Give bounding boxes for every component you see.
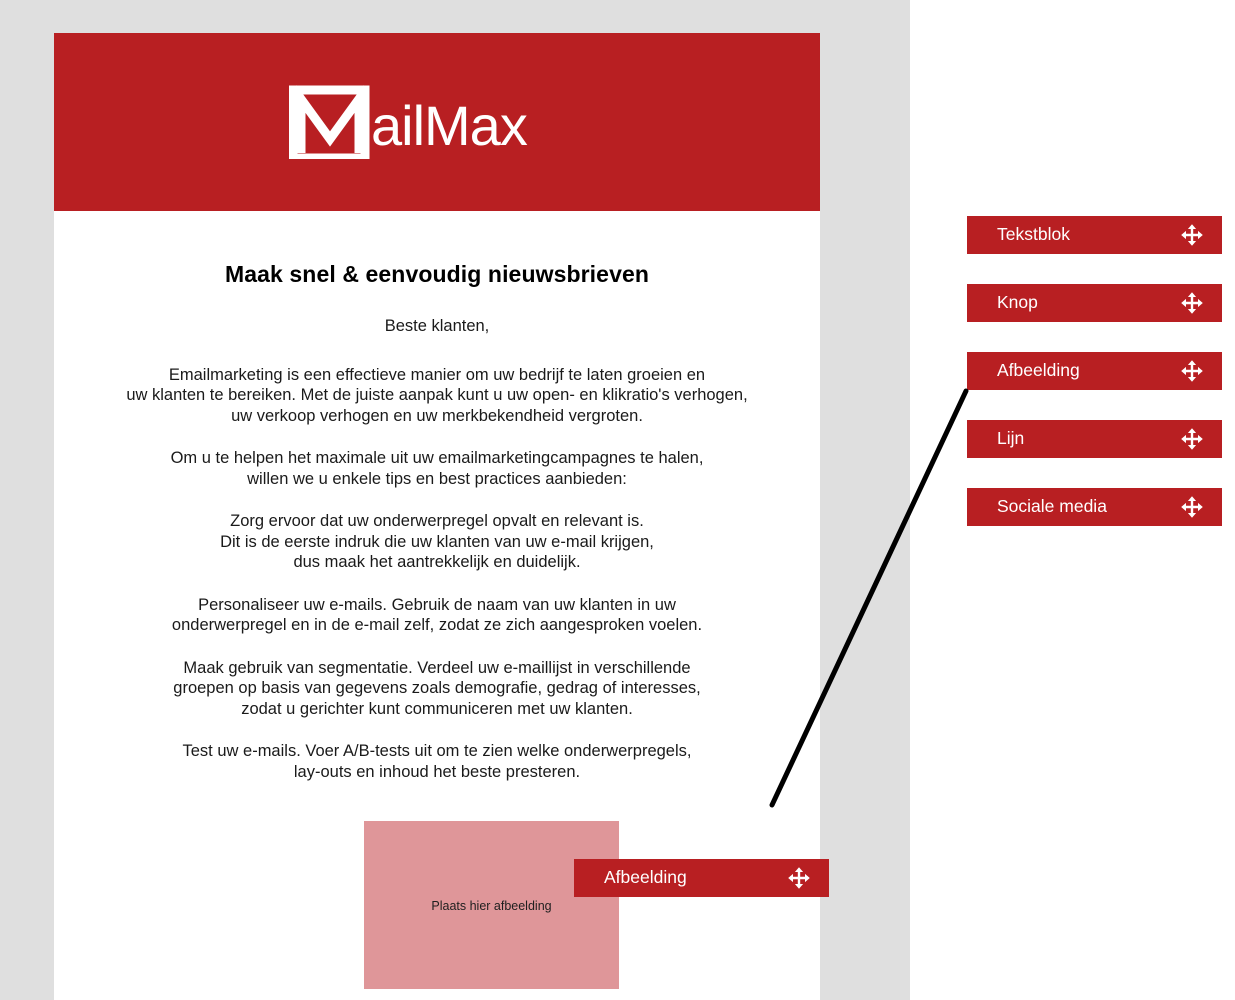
move-arrows-icon bbox=[1180, 427, 1204, 451]
image-placeholder-label: Plaats hier afbeelding bbox=[364, 899, 619, 913]
email-paragraph-greeting: Beste klanten, bbox=[54, 316, 820, 337]
brand-logo: ailMax bbox=[54, 33, 820, 211]
move-arrows-icon bbox=[1180, 291, 1204, 315]
palette-item-label: Lijn bbox=[997, 430, 1024, 448]
move-arrows-icon bbox=[787, 866, 811, 890]
palette-item-lijn[interactable]: Lijn bbox=[967, 420, 1222, 458]
email-paragraph-tip-personalise-line: onderwerpregel en in de e-mail zelf, zod… bbox=[54, 615, 820, 636]
email-paragraph-tip-segmentation-line: Maak gebruik van segmentatie. Verdeel uw… bbox=[54, 658, 820, 679]
email-paragraph-tip-personalise-line: Personaliseer uw e-mails. Gebruik de naa… bbox=[54, 595, 820, 616]
email-paragraph-tips-intro-line: Om u te helpen het maximale uit uw email… bbox=[54, 448, 820, 469]
email-canvas[interactable]: ailMax Maak snel & eenvoudig nieuwsbriev… bbox=[54, 33, 820, 1000]
move-arrows-icon bbox=[1180, 359, 1204, 383]
palette-item-tekstblok[interactable]: Tekstblok bbox=[967, 216, 1222, 254]
email-paragraph-tip-segmentation-line: groepen op basis van gegevens zoals demo… bbox=[54, 678, 820, 699]
palette-item-label: Afbeelding bbox=[997, 362, 1080, 380]
email-paragraph-tip-subject-line: dus maak het aantrekkelijk en duidelijk. bbox=[54, 552, 820, 573]
image-drop-placeholder[interactable]: Plaats hier afbeelding bbox=[364, 821, 619, 989]
envelope-m-logo-icon: ailMax bbox=[289, 85, 585, 159]
svg-text:ailMax: ailMax bbox=[371, 94, 528, 157]
email-paragraph-tip-testing-line: lay-outs en inhoud het beste presteren. bbox=[54, 762, 820, 783]
component-palette: Tekstblok Knop Afbeelding Lijn Sociale m bbox=[967, 216, 1222, 526]
email-paragraph-tip-subject-line: Zorg ervoor dat uw onderwerpregel opvalt… bbox=[54, 511, 820, 532]
email-paragraph-intro-line: uw klanten te bereiken. Met de juiste aa… bbox=[54, 385, 820, 406]
email-paragraph-intro-line: uw verkoop verhogen en uw merkbekendheid… bbox=[54, 406, 820, 427]
palette-item-label: Sociale media bbox=[997, 498, 1107, 516]
email-body: Maak snel & eenvoudig nieuwsbrieven Best… bbox=[54, 211, 820, 782]
email-header-banner: ailMax bbox=[54, 33, 820, 211]
palette-item-sociale-media[interactable]: Sociale media bbox=[967, 488, 1222, 526]
page-title: Maak snel & eenvoudig nieuwsbrieven bbox=[54, 211, 820, 288]
palette-item-label: Tekstblok bbox=[997, 226, 1070, 244]
editor-stage: ailMax Maak snel & eenvoudig nieuwsbriev… bbox=[0, 0, 1235, 1000]
move-arrows-icon bbox=[1180, 495, 1204, 519]
email-paragraph-tips-intro-line: willen we u enkele tips en best practice… bbox=[54, 469, 820, 490]
email-paragraph-tip-subject-line: Dit is de eerste indruk die uw klanten v… bbox=[54, 532, 820, 553]
move-arrows-icon bbox=[1180, 223, 1204, 247]
dragged-block-afbeelding[interactable]: Afbeelding bbox=[574, 859, 829, 897]
email-paragraph-tip-segmentation-line: zodat u gerichter kunt communiceren met … bbox=[54, 699, 820, 720]
email-paragraph-tip-testing-line: Test uw e-mails. Voer A/B-tests uit om t… bbox=[54, 741, 820, 762]
dragged-block-label: Afbeelding bbox=[604, 869, 687, 887]
palette-item-afbeelding[interactable]: Afbeelding bbox=[967, 352, 1222, 390]
email-paragraph-intro-line: Emailmarketing is een effectieve manier … bbox=[54, 365, 820, 386]
palette-item-knop[interactable]: Knop bbox=[967, 284, 1222, 322]
palette-item-label: Knop bbox=[997, 294, 1038, 312]
